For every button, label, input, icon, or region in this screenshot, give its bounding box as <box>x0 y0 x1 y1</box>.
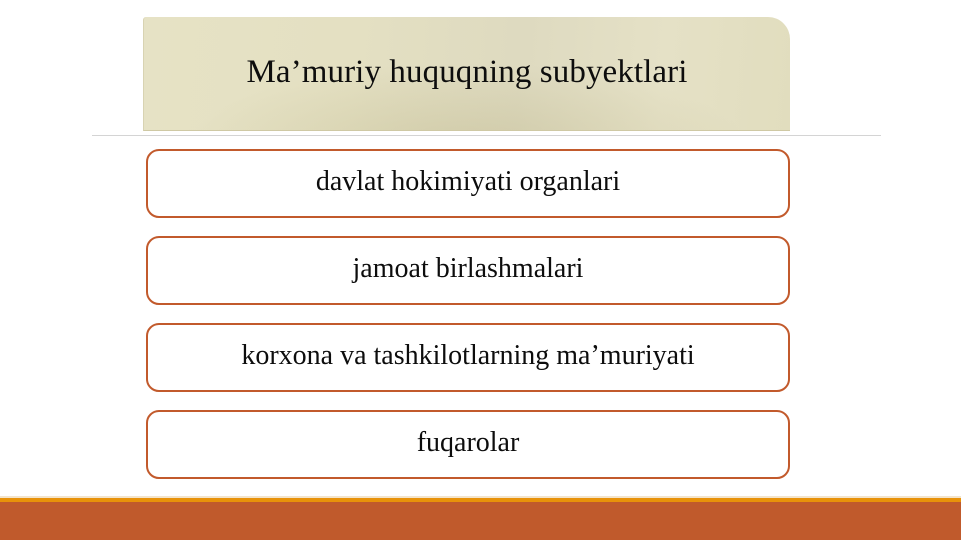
list-item-label: fuqarolar <box>403 427 534 461</box>
slide-canvas: Ma’muriy huquqning subyektlari davlat ho… <box>0 0 961 540</box>
slide-title-banner: Ma’muriy huquqning subyektlari <box>143 17 790 131</box>
list-item-label: jamoat birlashmalari <box>339 253 598 287</box>
page-title: Ma’muriy huquqning subyektlari <box>222 54 711 94</box>
title-divider-rule <box>92 135 881 136</box>
list-item[interactable]: korxona va tashkilotlarning ma’muriyati <box>146 323 790 392</box>
list-item-label: korxona va tashkilotlarning ma’muriyati <box>227 340 708 374</box>
list-item[interactable]: davlat hokimiyati organlari <box>146 149 790 218</box>
subject-list: davlat hokimiyati organlari jamoat birla… <box>146 149 790 479</box>
list-item[interactable]: fuqarolar <box>146 410 790 479</box>
footer-banner <box>0 496 961 540</box>
list-item-label: davlat hokimiyati organlari <box>302 166 634 200</box>
footer-main-bar <box>0 502 961 540</box>
list-item[interactable]: jamoat birlashmalari <box>146 236 790 305</box>
